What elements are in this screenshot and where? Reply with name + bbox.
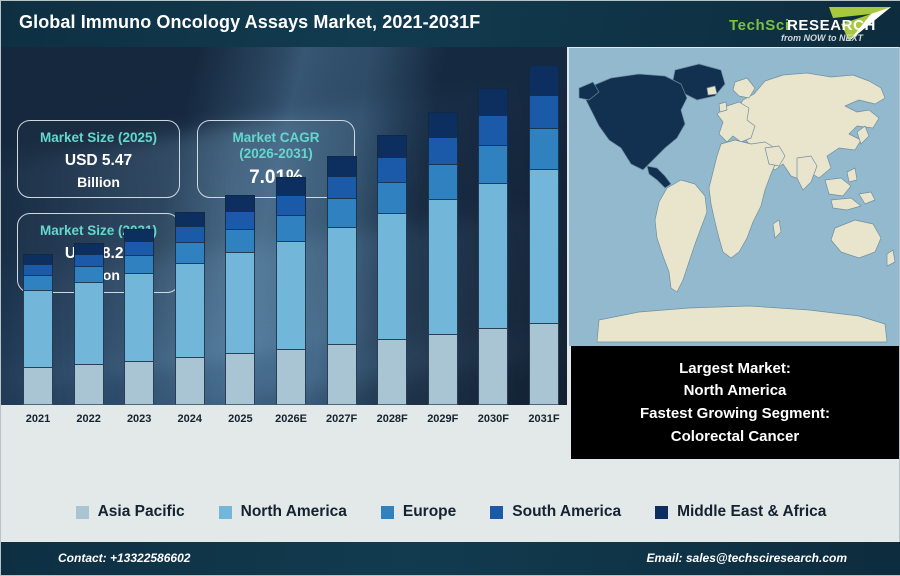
bar-segment-south-america	[124, 241, 154, 255]
bar-segment-middle-east-africa	[175, 212, 205, 226]
legend-label: Asia Pacific	[98, 503, 185, 521]
bar-segment-north-america	[124, 273, 154, 361]
bar-segment-europe	[327, 198, 357, 227]
fastest-segment-label: Fastest Growing Segment:	[640, 403, 830, 425]
x-axis-label-2025: 2025	[211, 413, 269, 425]
bar-segment-asia-pacific	[124, 361, 154, 405]
legend-label: Middle East & Africa	[677, 503, 826, 521]
bar-2024	[175, 212, 205, 405]
key-findings-box: Largest Market: North America Fastest Gr…	[571, 346, 899, 459]
bar-segment-south-america	[276, 195, 306, 215]
legend-item-south-america[interactable]: South America	[490, 503, 621, 521]
bar-segment-europe	[276, 215, 306, 241]
bar-segment-middle-east-africa	[377, 135, 407, 157]
bar-segment-south-america	[478, 115, 508, 145]
largest-market-label: Largest Market:	[679, 358, 791, 380]
bar-segment-north-america	[478, 183, 508, 328]
bar-segment-north-america	[225, 252, 255, 353]
bar-segment-asia-pacific	[327, 344, 357, 405]
bar-segment-north-america	[529, 169, 559, 323]
bar-segment-asia-pacific	[478, 328, 508, 405]
bar-segment-north-america	[327, 227, 357, 344]
bar-segment-europe	[428, 164, 458, 199]
bar-2027F	[327, 156, 357, 405]
legend-item-asia-pacific[interactable]: Asia Pacific	[76, 503, 185, 521]
bar-segment-asia-pacific	[175, 357, 205, 405]
bar-segment-south-america	[175, 226, 205, 242]
bar-segment-south-america	[23, 264, 53, 275]
bar-segment-middle-east-africa	[478, 88, 508, 115]
bar-2031F	[529, 65, 559, 405]
chart-panel: Market Size (2025) USD 5.47 Billion Mark…	[1, 47, 567, 459]
bar-segment-asia-pacific	[428, 334, 458, 405]
fastest-segment-value: Colorectal Cancer	[671, 426, 799, 448]
bar-segment-europe	[23, 275, 53, 290]
bar-segment-europe	[74, 266, 104, 282]
bar-segment-north-america	[428, 199, 458, 334]
legend-swatch-icon	[76, 506, 89, 519]
svg-text:from NOW to NEXT: from NOW to NEXT	[781, 33, 864, 43]
bar-segment-europe	[175, 242, 205, 263]
bar-segment-asia-pacific	[74, 364, 104, 405]
bar-segment-middle-east-africa	[428, 112, 458, 137]
bar-segment-middle-east-africa	[23, 254, 53, 264]
bar-segment-europe	[377, 182, 407, 213]
svg-text:TechSci: TechSci	[729, 17, 790, 34]
bar-2026E	[276, 177, 306, 405]
largest-market-value: North America	[684, 380, 787, 402]
page-title: Global Immuno Oncology Assays Market, 20…	[19, 12, 480, 33]
legend-swatch-icon	[219, 506, 232, 519]
bar-segment-north-america	[74, 282, 104, 364]
bar-segment-middle-east-africa	[529, 65, 559, 95]
legend-swatch-icon	[490, 506, 503, 519]
bar-segment-europe	[529, 128, 559, 169]
bar-2029F	[428, 112, 458, 405]
bar-segment-north-america	[175, 263, 205, 357]
bar-segment-south-america	[428, 137, 458, 164]
bar-segment-asia-pacific	[276, 349, 306, 405]
header-bar: Global Immuno Oncology Assays Market, 20…	[1, 1, 900, 47]
legend-swatch-icon	[655, 506, 668, 519]
bar-2023	[124, 229, 154, 405]
bar-segment-north-america	[276, 241, 306, 349]
legend-item-north-america[interactable]: North America	[219, 503, 347, 521]
bar-segment-middle-east-africa	[225, 195, 255, 211]
bar-segment-south-america	[377, 157, 407, 182]
bar-segment-middle-east-africa	[124, 229, 154, 241]
x-axis-label-2022: 2022	[60, 413, 118, 425]
x-axis-label-2027F: 2027F	[313, 413, 371, 425]
bar-segment-north-america	[23, 290, 53, 367]
x-axis-label-2031F: 2031F	[515, 413, 567, 425]
bar-segment-north-america	[377, 213, 407, 339]
bar-segment-europe	[124, 255, 154, 273]
bar-2030F	[478, 88, 508, 405]
bar-2025	[225, 195, 255, 405]
infographic-root: Global Immuno Oncology Assays Market, 20…	[0, 0, 900, 576]
bar-segment-asia-pacific	[225, 353, 255, 405]
bar-segment-asia-pacific	[529, 323, 559, 405]
legend-item-europe[interactable]: Europe	[381, 503, 456, 521]
bar-2021	[23, 254, 53, 405]
bar-segment-europe	[478, 145, 508, 183]
bar-segment-south-america	[327, 176, 357, 198]
bar-segment-middle-east-africa	[74, 243, 104, 254]
bar-2022	[74, 243, 104, 405]
x-axis-label-2023: 2023	[110, 413, 168, 425]
bar-segment-europe	[225, 229, 255, 252]
footer-contact: Contact: +13322586602	[58, 551, 190, 565]
x-axis-label-2026E: 2026E	[262, 413, 320, 425]
bar-segment-asia-pacific	[23, 367, 53, 405]
bar-segment-middle-east-africa	[327, 156, 357, 176]
x-axis-label-2030F: 2030F	[464, 413, 522, 425]
legend-swatch-icon	[381, 506, 394, 519]
techsci-research-logo: TechSci RESEARCH from NOW to NEXT	[721, 4, 893, 45]
footer-email: Email: sales@techsciresearch.com	[647, 551, 847, 565]
svg-text:RESEARCH: RESEARCH	[787, 17, 876, 34]
bar-segment-south-america	[74, 254, 104, 266]
legend-item-middle-east-africa[interactable]: Middle East & Africa	[655, 503, 826, 521]
bar-segment-south-america	[529, 95, 559, 128]
legend-label: South America	[512, 503, 621, 521]
bar-2028F	[377, 135, 407, 405]
legend-label: North America	[241, 503, 347, 521]
world-map	[569, 48, 899, 346]
bar-segment-middle-east-africa	[276, 177, 306, 195]
x-axis-label-2029F: 2029F	[414, 413, 472, 425]
stacked-bar-chart: 202120222023202420252026E2027F2028F2029F…	[1, 47, 567, 459]
footer-bar: Contact: +13322586602 Email: sales@techs…	[1, 542, 900, 575]
chart-legend: Asia PacificNorth AmericaEuropeSouth Ame…	[1, 491, 900, 533]
bar-segment-asia-pacific	[377, 339, 407, 405]
x-axis-label-2021: 2021	[9, 413, 67, 425]
bar-segment-south-america	[225, 211, 255, 229]
x-axis-label-2028F: 2028F	[363, 413, 421, 425]
legend-label: Europe	[403, 503, 456, 521]
x-axis-label-2024: 2024	[161, 413, 219, 425]
